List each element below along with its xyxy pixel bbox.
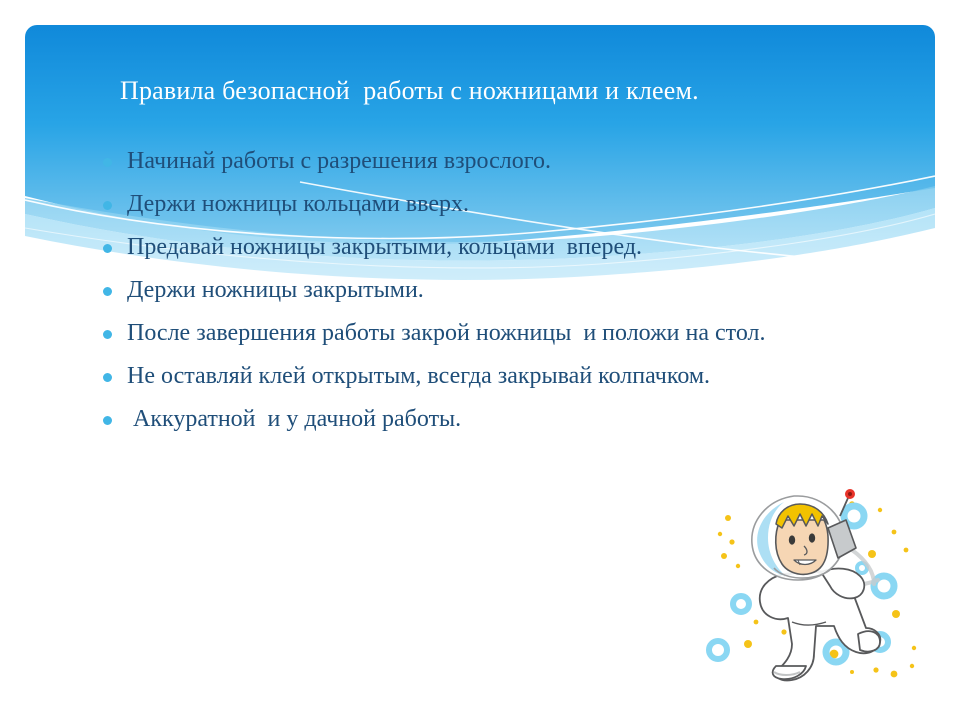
astronaut-suit: [760, 569, 881, 681]
bullet-dot-icon: [103, 158, 112, 167]
list-item-label: После завершения работы закрой ножницы и…: [127, 318, 786, 349]
bullet-dot-icon: [103, 330, 112, 339]
bullet-dot-icon: [103, 287, 112, 296]
list-item-label: Предавай ножницы закрытыми, кольцами впе…: [127, 232, 786, 263]
list-item: Начинай работы с разрешения взрослого.: [96, 146, 786, 177]
list-item-label: Не оставляй клей открытым, всегда закрыв…: [127, 361, 786, 392]
slide-canvas: Правила безопасной работы с ножницами и …: [0, 0, 960, 720]
list-item-label: Начинай работы с разрешения взрослого.: [127, 146, 786, 177]
list-item: Держи ножницы закрытыми.: [96, 275, 786, 306]
list-item-label: Держи ножницы закрытыми.: [127, 275, 786, 306]
list-item: Не оставляй клей открытым, всегда закрыв…: [96, 361, 786, 392]
slide-title: Правила безопасной работы с ножницами и …: [120, 75, 880, 107]
astronaut-head: [776, 504, 828, 574]
bullet-dot-icon: [103, 201, 112, 210]
bullet-dot-icon: [103, 373, 112, 382]
bullet-dot-icon: [103, 244, 112, 253]
astronaut-illustration: [688, 476, 936, 690]
list-item: Предавай ножницы закрытыми, кольцами впе…: [96, 232, 786, 263]
list-item-label: Держи ножницы кольцами вверх.: [127, 189, 786, 220]
bullet-list: Начинай работы с разрешения взрослого. Д…: [96, 146, 786, 447]
list-item: Аккуратной и у дачной работы.: [96, 404, 786, 435]
list-item: Держи ножницы кольцами вверх.: [96, 189, 786, 220]
list-item: После завершения работы закрой ножницы и…: [96, 318, 786, 349]
bullet-dot-icon: [103, 416, 112, 425]
list-item-label: Аккуратной и у дачной работы.: [127, 404, 786, 435]
